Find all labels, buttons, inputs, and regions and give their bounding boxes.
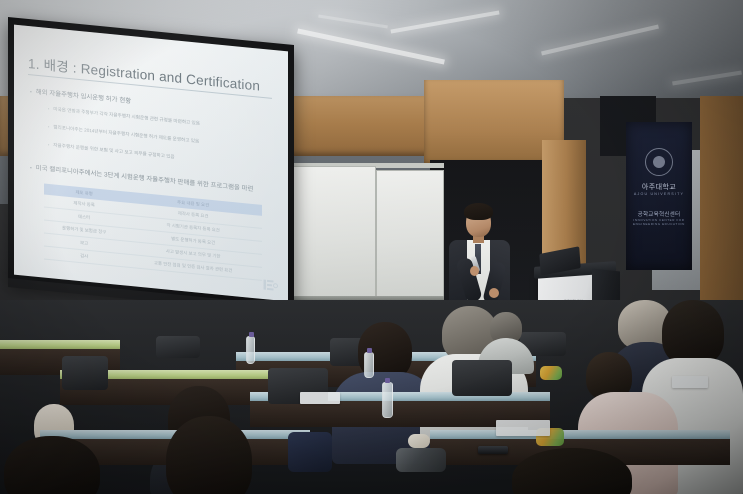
slide-table: 제도 유형 주요 내용 및 요건 제작사 등록 제작사 등록 요건 테스터 각 … bbox=[44, 184, 262, 281]
projection-screen: 1. 배경 : Registration and Certification 해… bbox=[8, 17, 294, 311]
audience-head bbox=[4, 436, 100, 494]
lecture-hall-photo: 아주대학교 AJOU UNIVERSITY 공학교육혁신센터 INNOVATIO… bbox=[0, 0, 743, 494]
university-banner: 아주대학교 AJOU UNIVERSITY 공학교육혁신센터 INNOVATIO… bbox=[626, 122, 692, 270]
audience-member bbox=[0, 436, 120, 494]
slide-bullet: 해외 자율주행차 임시운행 허가 현황 bbox=[30, 86, 131, 105]
whiteboard-panel-left bbox=[288, 166, 376, 300]
banner-center-name-ko: 공학교육혁신센터 bbox=[626, 210, 692, 218]
presenter-hand-left bbox=[470, 266, 479, 276]
slide-bullet: 자율주행차 운행을 위한 보험 및 사고 보고 의무를 규정하고 있음 bbox=[48, 142, 175, 160]
banner-university-name-ko: 아주대학교 bbox=[626, 182, 692, 192]
audience-head bbox=[512, 448, 632, 494]
tissue bbox=[408, 434, 430, 448]
audience-member bbox=[512, 448, 642, 494]
papers bbox=[300, 392, 340, 404]
slide-title: 1. 배경 : Registration and Certification bbox=[28, 52, 260, 95]
seal-inner-mark bbox=[653, 156, 665, 168]
presenter-hand-right bbox=[489, 288, 499, 298]
snack-bag bbox=[540, 366, 562, 380]
water-bottle bbox=[246, 336, 255, 364]
audience-head bbox=[166, 416, 252, 494]
chair bbox=[156, 336, 200, 358]
papers bbox=[672, 376, 708, 388]
chair bbox=[452, 360, 512, 396]
slide-corner-logo-icon bbox=[263, 278, 278, 292]
chair bbox=[62, 356, 108, 390]
presenter-hair bbox=[464, 203, 493, 220]
audience-member bbox=[150, 416, 270, 494]
water-bottle bbox=[382, 382, 393, 418]
smartphone bbox=[478, 446, 508, 454]
slide-bullet: 미국은 연방과 주정부가 각각 자율주행차 시험운행 관련 규정을 마련하고 있… bbox=[48, 106, 200, 127]
navy-bag bbox=[288, 432, 332, 472]
whiteboard-panel-right bbox=[376, 170, 444, 300]
university-seal-icon bbox=[645, 148, 673, 176]
presentation-slide: 1. 배경 : Registration and Certification 해… bbox=[14, 25, 288, 302]
folded-cloth bbox=[396, 448, 446, 472]
projection-screen-surface: 1. 배경 : Registration and Certification 해… bbox=[14, 25, 288, 302]
water-bottle bbox=[364, 352, 374, 378]
papers bbox=[496, 420, 550, 436]
banner-center-name-en: INNOVATION CENTER FOR ENGINEERING EDUCAT… bbox=[626, 218, 692, 226]
banner-university-name-en: AJOU UNIVERSITY bbox=[626, 192, 692, 196]
slide-bullet: 캘리포니아주는 2014년부터 자율주행차 시험운행 허가 제도를 운영하고 있… bbox=[48, 124, 199, 145]
